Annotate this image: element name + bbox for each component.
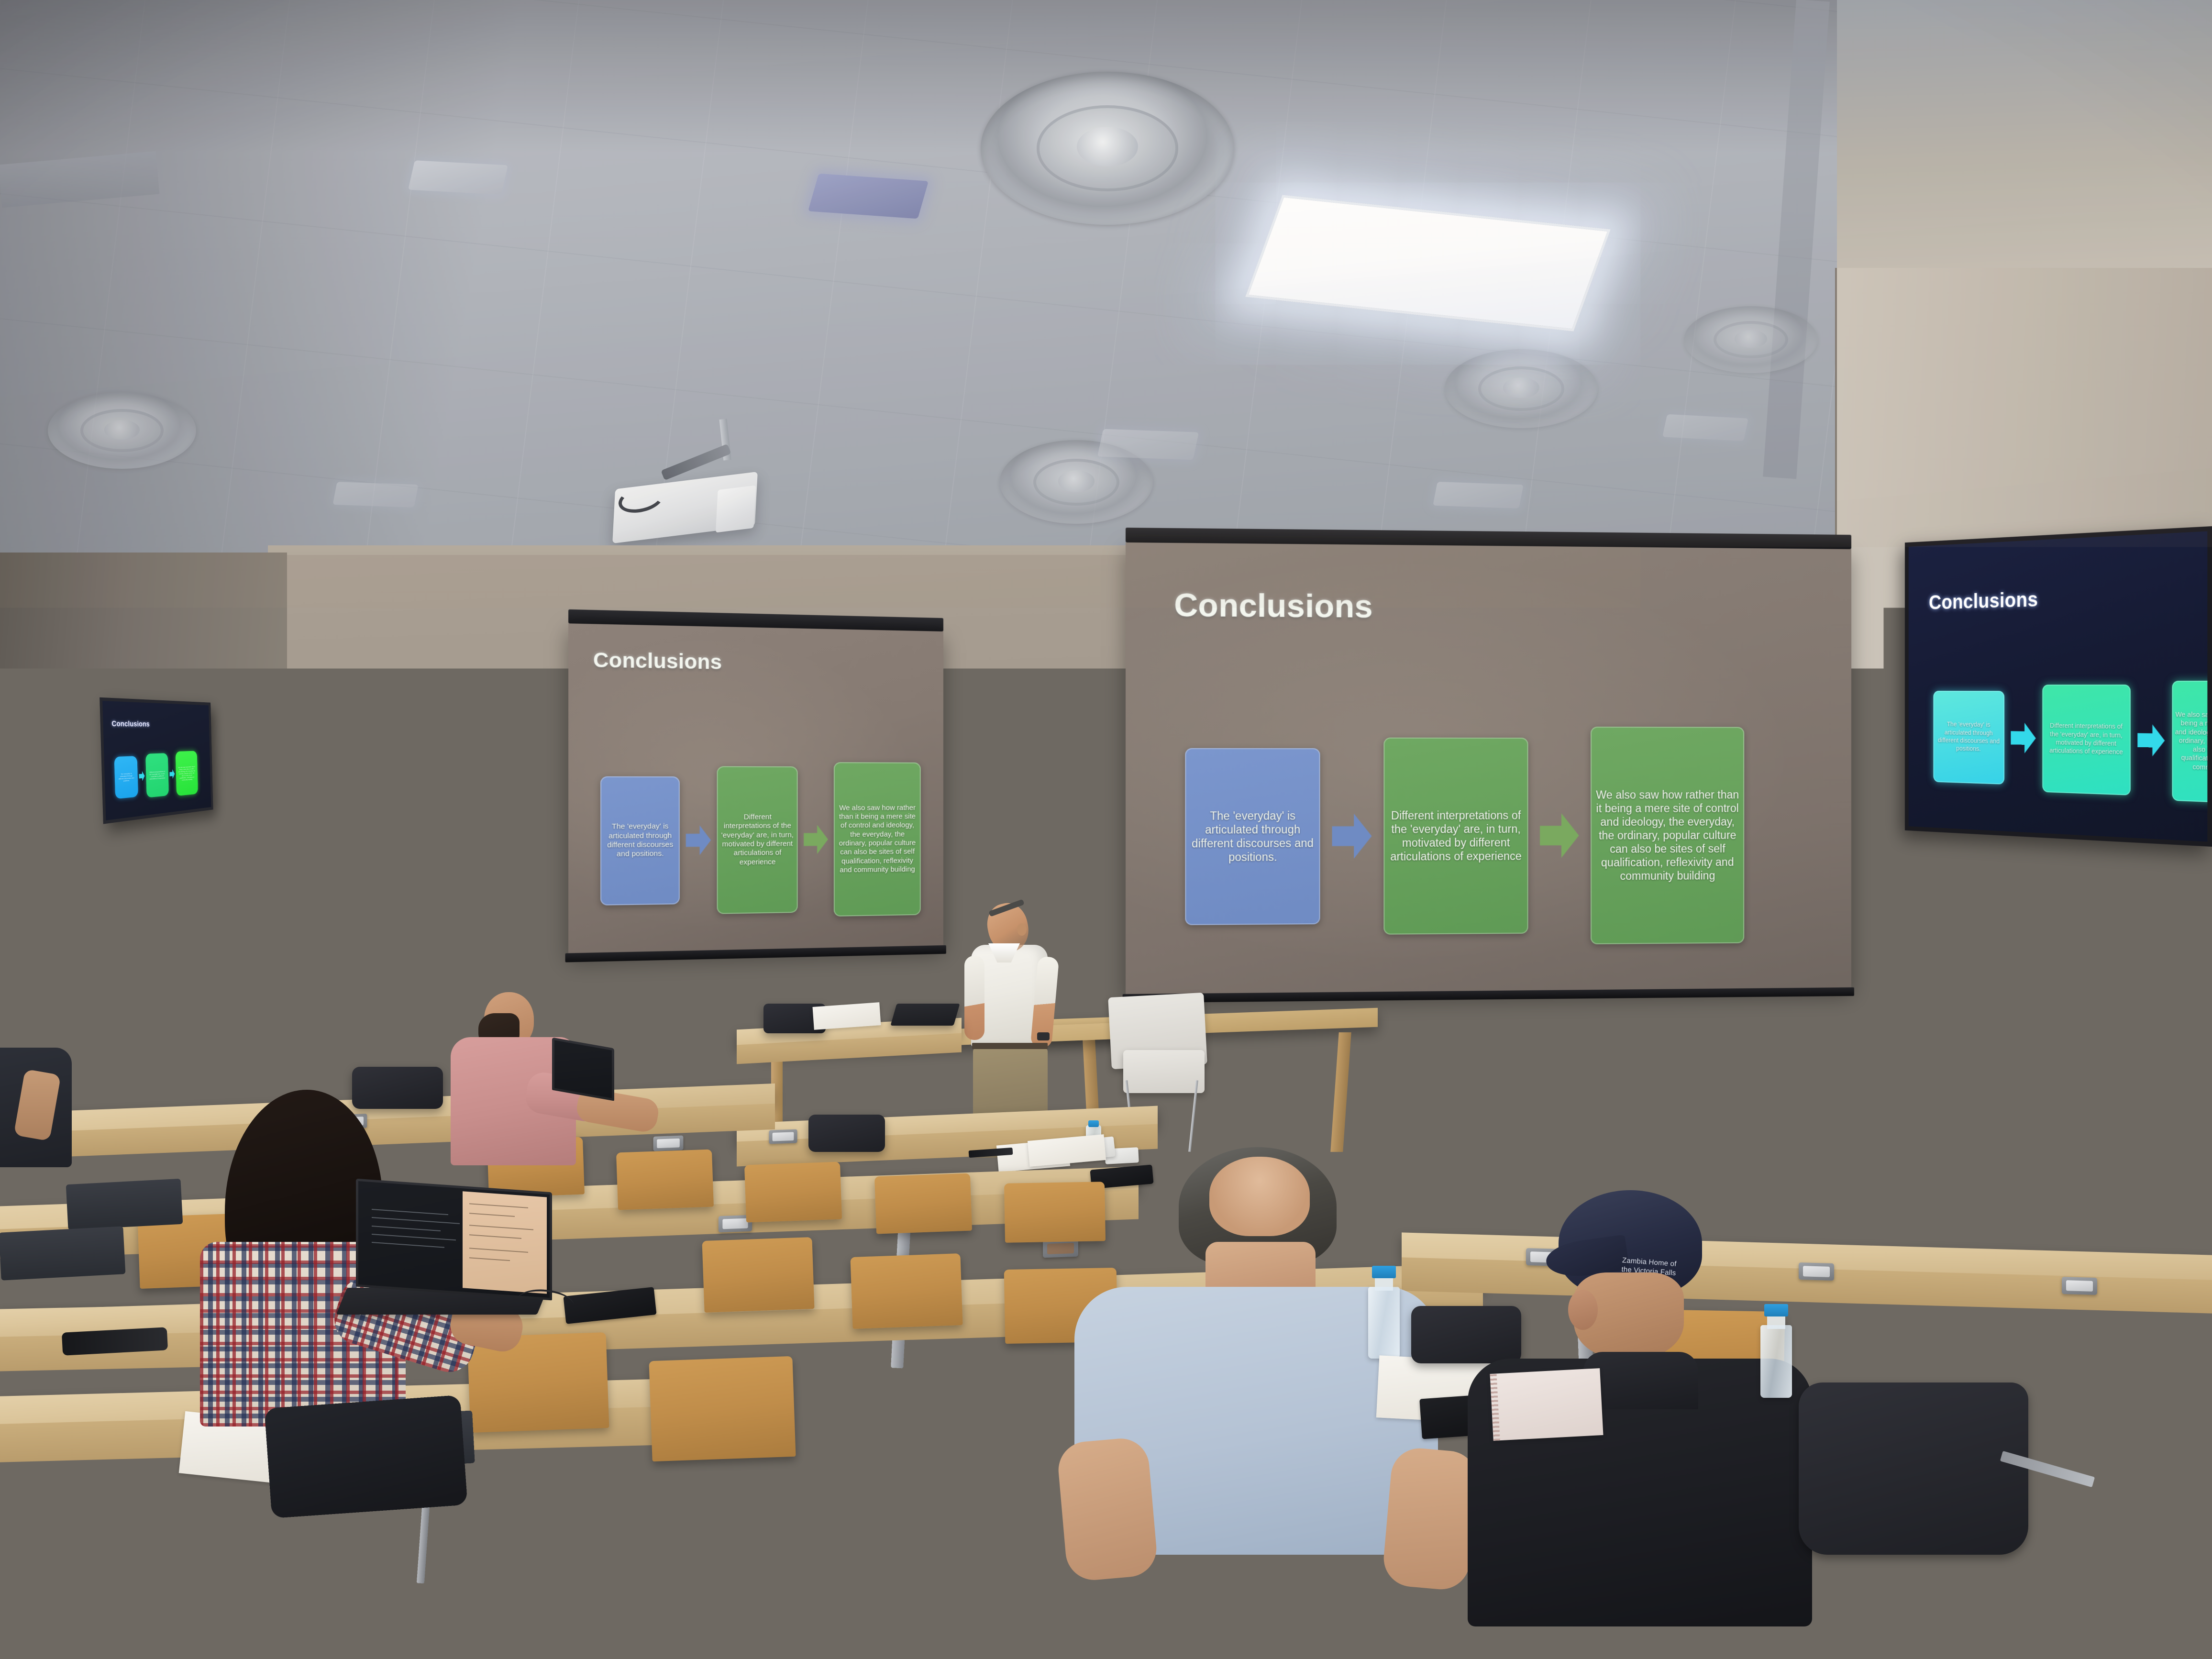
lecture-chair[interactable]: [2046, 1542, 2212, 1659]
bottle-cap-icon: [1372, 1266, 1396, 1278]
backpack: [1799, 1382, 2028, 1555]
device-on-desk: [1856, 1641, 2000, 1659]
small-bag: [1435, 1301, 1507, 1359]
recessed-downlight: [808, 174, 929, 219]
left-wall-monitor: Conclusions The 'everyday' is articulate…: [100, 697, 213, 824]
lecture-chair[interactable]: [1004, 1182, 1106, 1243]
stacking-chair-seat: [1123, 1050, 1205, 1093]
slide-arrow-2-icon: [804, 825, 828, 854]
recessed-downlight: [332, 482, 418, 508]
recessed-downlight: [408, 160, 508, 195]
slide-box-2: Different interpretations of the 'everyd…: [2042, 685, 2130, 796]
clock-centre-pin: [1032, 716, 1036, 720]
fire-alarm-plate: [1681, 1046, 1727, 1092]
attendee-ear: [1568, 1290, 1598, 1330]
slide-title: Conclusions: [111, 719, 150, 729]
lecture-chair[interactable]: [744, 1162, 842, 1223]
desk-power-socket-open[interactable]: [1043, 1239, 1078, 1258]
recessed-downlight: [1097, 429, 1199, 460]
chair-seat-pad: [0, 1533, 144, 1595]
laptop-screen: [554, 1040, 612, 1098]
door-right-panel: [462, 843, 516, 920]
attendee-arm-left: [1056, 1436, 1159, 1582]
presenter-belt: [972, 1043, 1048, 1049]
desk-power-socket[interactable]: [253, 1059, 280, 1073]
laptop-screen-lid: [356, 1179, 552, 1301]
slide-arrow-2-icon: [169, 769, 175, 779]
laptop-on-desk: [890, 1004, 960, 1026]
spiral-notebook: [1490, 1368, 1603, 1441]
attendee-head-bald-patch: [1209, 1157, 1310, 1236]
air-diffuser-icon: [981, 72, 1234, 225]
power-led-icon: [144, 1001, 148, 1006]
slide-title: Conclusions: [1929, 587, 2038, 614]
slide-conclusions-tv: Conclusions The 'everyday' is articulate…: [1909, 531, 2208, 841]
desk-power-socket[interactable]: [769, 1129, 797, 1144]
presenter-ear: [1017, 923, 1027, 936]
slide-title: Conclusions: [1174, 586, 1373, 625]
slide-arrow-1-icon: [2011, 723, 2035, 754]
backpack-on-desk: [352, 1067, 443, 1109]
lecture-chair[interactable]: [874, 1173, 972, 1234]
air-diffuser-icon: [1684, 306, 1818, 373]
air-diffuser-icon: [1445, 349, 1598, 428]
desk-power-socket[interactable]: [653, 1135, 684, 1151]
attendee-arm-right: [1382, 1446, 1480, 1592]
slide-box-3: We also saw how rather than it being a m…: [176, 751, 198, 796]
desk-power-socket[interactable]: [1799, 1262, 1834, 1281]
direction-arrow-sticker-icon: [306, 831, 346, 861]
chair-seat-pad: [66, 1179, 183, 1230]
backpack-on-desk: [808, 1115, 885, 1152]
running-man-icon: [446, 796, 451, 801]
slide-box-2: Different interpretations of the 'everyd…: [717, 766, 798, 914]
presenter-arm-left: [964, 956, 984, 1040]
air-diffuser-icon: [48, 392, 196, 469]
slide-arrow-1-icon: [139, 771, 144, 782]
document-pane: [463, 1191, 547, 1294]
slide-box-2: Different interpretations of the 'everyd…: [145, 753, 169, 797]
chair-seat-pad: [0, 1226, 125, 1280]
slide-box-1: The 'everyday' is articulated through di…: [1185, 748, 1320, 925]
water-bottle: [1368, 1287, 1400, 1359]
attendee-legs: [264, 1395, 467, 1518]
right-wall-tv: Conclusions The 'everyday' is articulate…: [1905, 526, 2212, 847]
lecture-hall-photo: Conclusions The 'everyday' is articulate…: [0, 0, 2212, 1659]
door-left-panel: [376, 851, 429, 937]
tv-screen: Conclusions The 'everyday' is articulate…: [1909, 531, 2208, 841]
recessed-downlight: [1433, 482, 1524, 509]
recessed-downlight: [1662, 414, 1748, 441]
slide-conclusions-monitor: Conclusions The 'everyday' is articulate…: [102, 701, 211, 820]
left-projection-screen: Conclusions The 'everyday' is articulate…: [568, 623, 943, 955]
slide-box-2: Different interpretations of the 'everyd…: [1383, 738, 1528, 935]
emergency-exit-sign-icon: [433, 792, 463, 805]
slide-box-1: The 'everyday' is articulated through di…: [600, 776, 680, 906]
bottle-cap: [1088, 1120, 1099, 1127]
slide-conclusions-left: Conclusions The 'everyday' is articulate…: [568, 623, 943, 955]
wristwatch-icon: [1037, 1032, 1050, 1040]
equipment-cabinet: [80, 957, 200, 1043]
desk-power-socket[interactable]: [839, 1479, 880, 1499]
fire-alarm-box-icon[interactable]: [1686, 1024, 1722, 1046]
slide-box-3: We also saw how rather than it being a m…: [2172, 681, 2207, 805]
attendee-head: [0, 1000, 46, 1053]
slide-arrow-1-icon: [1332, 814, 1372, 859]
monitor-screen: Conclusions The 'everyday' is articulate…: [102, 701, 211, 820]
slide-arrow-2-icon: [2137, 724, 2165, 757]
lecture-chair[interactable]: [649, 1356, 796, 1461]
slide-arrow-2-icon: [1540, 813, 1579, 858]
slide-box-3: We also saw how rather than it being a m…: [834, 762, 921, 917]
screen-surface: Conclusions The 'everyday' is articulate…: [1126, 542, 1851, 996]
right-wall-upper: [1837, 0, 2212, 297]
clock-minute-hand: [1033, 718, 1046, 736]
slide-title: Conclusions: [593, 648, 722, 674]
desk-power-socket[interactable]: [2062, 1277, 2097, 1295]
main-projection-screen: Conclusions The 'everyday' is articulate…: [1126, 542, 1851, 996]
laptop-screen: [358, 1181, 550, 1298]
bottle-cap-icon: [1764, 1304, 1788, 1316]
door-handle[interactable]: [458, 933, 473, 938]
papers-on-desk: [812, 1002, 881, 1030]
slide-box-1: The 'everyday' is articulated through di…: [1933, 691, 2004, 785]
projector-lens: [716, 486, 756, 533]
screen-surface: Conclusions The 'everyday' is articulate…: [568, 623, 943, 955]
lecture-chair[interactable]: [850, 1253, 962, 1329]
slide-box-3: We also saw how rather than it being a m…: [1591, 727, 1744, 944]
lecture-chair[interactable]: [702, 1237, 814, 1313]
slide-arrow-1-icon: [686, 825, 711, 855]
lecture-chair[interactable]: [616, 1150, 714, 1210]
slide-conclusions-main: Conclusions The 'everyday' is articulate…: [1126, 542, 1851, 996]
slide-box-1: The 'everyday' is articulated through di…: [114, 756, 138, 799]
water-bottle: [1760, 1325, 1792, 1398]
laptop-lid: [552, 1038, 614, 1101]
wall-clock: [1006, 690, 1062, 746]
desk-power-socket[interactable]: [148, 1052, 175, 1066]
